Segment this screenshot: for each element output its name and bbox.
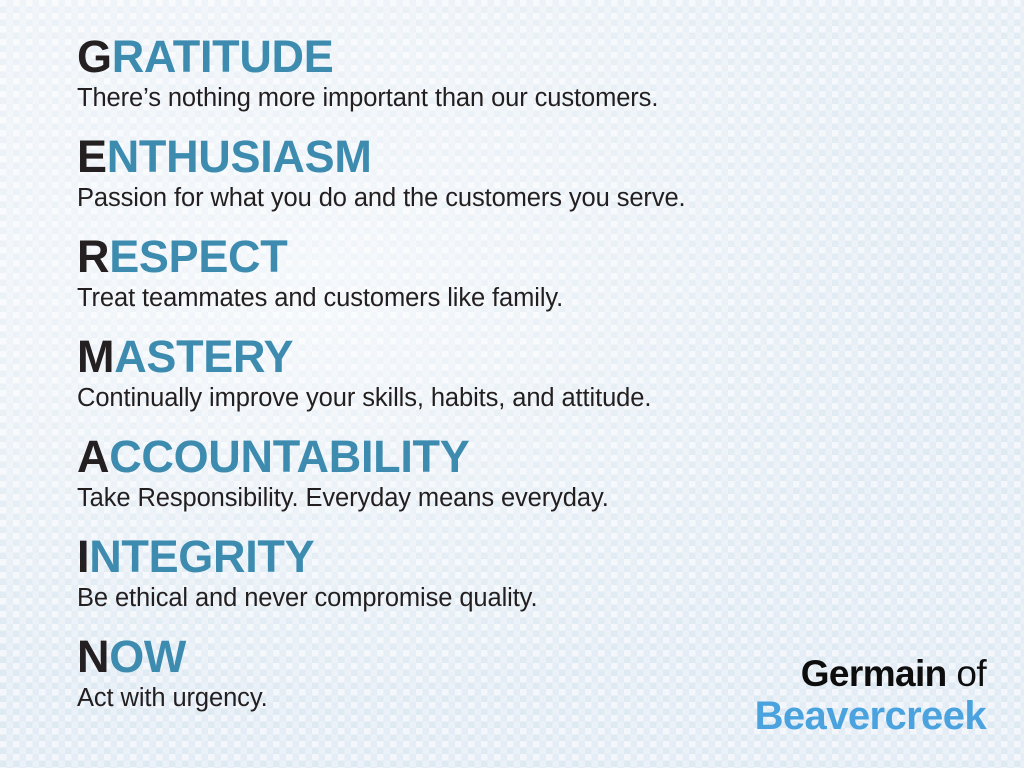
value-block-integrity: INTEGRITY Be ethical and never compromis… (77, 534, 1024, 614)
logo-line-primary: Germain of (755, 655, 986, 692)
value-block-accountability: ACCOUNTABILITY Take Responsibility. Ever… (77, 434, 1024, 514)
logo-location-name: Beavercreek (755, 696, 986, 736)
value-rest: OW (109, 631, 186, 682)
value-description-enthusiasm: Passion for what you do and the customer… (77, 183, 1024, 214)
value-rest: NTEGRITY (89, 531, 314, 582)
value-description-integrity: Be ethical and never compromise quality. (77, 583, 1024, 614)
value-word-enthusiasm: ENTHUSIASM (77, 134, 1024, 180)
value-description-mastery: Continually improve your skills, habits,… (77, 383, 1024, 414)
value-rest: RATITUDE (112, 31, 334, 82)
value-word-gratitude: GRATITUDE (77, 34, 1024, 80)
value-initial: I (77, 531, 89, 582)
value-initial: A (77, 431, 109, 482)
value-word-mastery: MASTERY (77, 334, 1024, 380)
value-block-respect: RESPECT Treat teammates and customers li… (77, 234, 1024, 314)
value-initial: G (77, 31, 112, 82)
value-description-accountability: Take Responsibility. Everyday means ever… (77, 483, 1024, 514)
value-initial: M (77, 331, 114, 382)
value-block-gratitude: GRATITUDE There’s nothing more important… (77, 34, 1024, 114)
value-initial: E (77, 131, 107, 182)
value-initial: R (77, 231, 109, 282)
value-description-gratitude: There’s nothing more important than our … (77, 83, 1024, 114)
value-rest: CCOUNTABILITY (109, 431, 469, 482)
dealership-logo: Germain of Beavercreek (755, 655, 986, 736)
value-rest: ASTERY (114, 331, 293, 382)
value-rest: NTHUSIASM (107, 131, 372, 182)
value-rest: ESPECT (109, 231, 287, 282)
logo-brand-name: Germain (801, 653, 947, 694)
value-word-integrity: INTEGRITY (77, 534, 1024, 580)
value-block-enthusiasm: ENTHUSIASM Passion for what you do and t… (77, 134, 1024, 214)
logo-connector-word: of (947, 653, 986, 694)
value-initial: N (77, 631, 109, 682)
value-word-respect: RESPECT (77, 234, 1024, 280)
value-description-respect: Treat teammates and customers like famil… (77, 283, 1024, 314)
value-block-mastery: MASTERY Continually improve your skills,… (77, 334, 1024, 414)
value-word-accountability: ACCOUNTABILITY (77, 434, 1024, 480)
